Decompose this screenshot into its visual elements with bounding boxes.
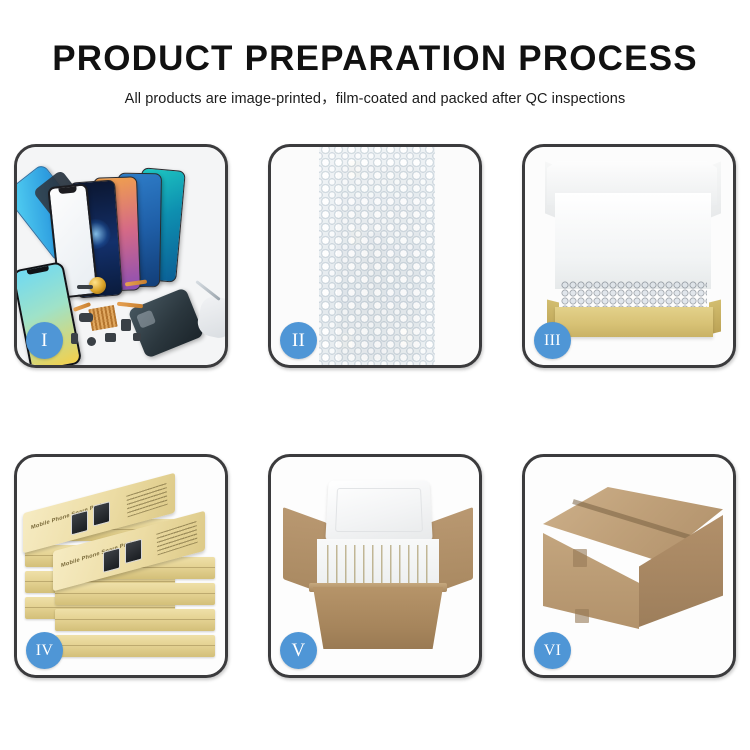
small-part-icon <box>79 313 93 322</box>
step-badge-6: VI <box>534 632 571 669</box>
process-step-6[interactable]: VI <box>522 454 736 678</box>
process-step-2[interactable]: II <box>268 144 482 368</box>
product-preparation-infographic: PRODUCT PREPARATION PROCESS All products… <box>0 0 750 750</box>
box-thumbnail-icon <box>71 510 88 536</box>
step-badge-1: I <box>26 322 63 359</box>
small-part-icon <box>77 285 93 289</box>
phone-housing-icon <box>128 287 205 358</box>
box-thumbnail-icon <box>125 539 142 565</box>
kraft-box-layer <box>55 609 215 631</box>
bubble-texture-icon <box>319 147 435 365</box>
step-badge-5: V <box>280 632 317 669</box>
page-title: PRODUCT PREPARATION PROCESS <box>0 0 750 78</box>
step-badge-2: II <box>280 322 317 359</box>
kraft-box-layer <box>55 635 215 657</box>
small-part-icon <box>105 333 116 342</box>
foam-backing-icon <box>555 193 711 289</box>
box-thumbnail-icon <box>93 501 110 527</box>
small-part-icon <box>121 319 131 331</box>
flex-cable-icon <box>117 302 143 309</box>
box-text-lines-icon <box>156 521 197 555</box>
process-step-3[interactable]: III <box>522 144 736 368</box>
bubble-wrap-bag-icon <box>319 147 435 365</box>
step-badge-4: IV <box>26 632 63 669</box>
carton-tape-icon <box>575 609 589 623</box>
small-part-icon <box>87 337 96 346</box>
foam-cooler-lid-icon <box>325 481 432 542</box>
process-step-grid: I II <box>14 144 736 678</box>
box-text-lines-icon <box>126 483 167 517</box>
process-step-4[interactable]: Mobile Phone Spare Parts Mobile Phone Sp… <box>14 454 228 678</box>
small-part-icon <box>71 333 78 344</box>
header: PRODUCT PREPARATION PROCESS All products… <box>0 0 750 108</box>
page-subtitle: All products are image-printed，film-coat… <box>0 78 750 108</box>
kraft-box-front-icon <box>555 307 713 337</box>
small-part-icon <box>133 333 141 341</box>
box-thumbnail-icon <box>103 547 120 573</box>
carton-tape-icon <box>573 549 587 567</box>
kraft-box-layer <box>55 583 215 605</box>
step-badge-3: III <box>534 322 571 359</box>
carton-body-icon <box>313 587 443 649</box>
kraft-box-label: Mobile Phone Spare Parts <box>61 540 135 570</box>
packed-kraft-boxes-icon <box>327 545 429 585</box>
process-step-5[interactable]: V <box>268 454 482 678</box>
process-step-1[interactable]: I <box>14 144 228 368</box>
